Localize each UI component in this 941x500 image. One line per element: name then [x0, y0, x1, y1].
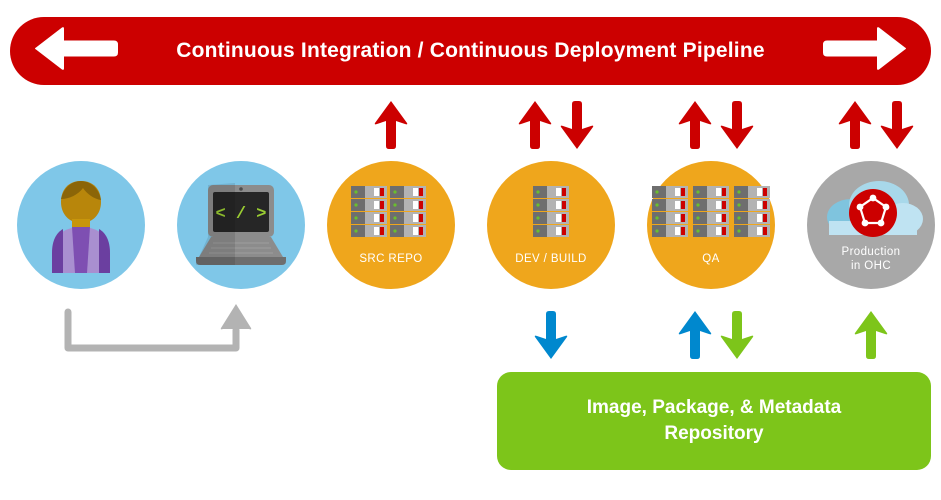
node-label-production-line1: Production — [842, 246, 901, 258]
node-label-dev-build: DEV / BUILD — [515, 252, 587, 266]
node-label-production-line2: in OHC — [851, 260, 891, 272]
page-title: Continuous Integration / Continuous Depl… — [176, 39, 765, 63]
repository-arrows-dev-build — [534, 311, 568, 359]
pipeline-banner: Continuous Integration / Continuous Depl… — [10, 17, 931, 85]
arrow-up-icon — [838, 101, 872, 149]
repository-arrows-qa — [678, 311, 754, 359]
arrow-up-icon — [518, 101, 552, 149]
node-label-production: Productionin OHC — [842, 245, 901, 274]
person-icon — [38, 194, 124, 256]
repository-label: Image, Package, & MetadataRepository — [587, 395, 842, 446]
repository-label-line2: Repository — [664, 423, 763, 444]
arrow-up-icon — [374, 101, 408, 149]
node-production[interactable]: Productionin OHC — [807, 161, 935, 289]
pipeline-arrows-src-repo — [374, 101, 408, 149]
server-rack-icon — [652, 184, 770, 246]
openshift-badge-icon — [849, 189, 897, 237]
arrow-up-icon — [221, 304, 252, 329]
node-workstation[interactable]: < / > — [177, 161, 305, 289]
node-src-repo[interactable]: SRC REPO — [327, 161, 455, 289]
arrow-down-icon — [720, 311, 754, 359]
pipeline-arrows-dev-build — [518, 101, 594, 149]
arrow-up-icon — [854, 311, 888, 359]
arrow-right-icon — [823, 27, 907, 76]
node-qa[interactable]: QA — [647, 161, 775, 289]
cloud-openshift-icon — [817, 177, 925, 239]
pipeline-arrows-qa — [678, 101, 754, 149]
repository-box[interactable]: Image, Package, & MetadataRepository — [497, 372, 931, 470]
laptop-code-icon: < / > — [191, 194, 291, 256]
developer-to-workstation-connector — [60, 300, 260, 367]
arrow-up-icon — [678, 101, 712, 149]
arrow-down-icon — [880, 101, 914, 149]
node-label-src-repo: SRC REPO — [359, 252, 422, 266]
node-dev-build[interactable]: DEV / BUILD — [487, 161, 615, 289]
pipeline-arrows-production — [838, 101, 914, 149]
server-rack-icon — [533, 184, 569, 246]
arrow-down-icon — [560, 101, 594, 149]
arrow-down-icon — [720, 101, 754, 149]
repository-label-line1: Image, Package, & Metadata — [587, 397, 842, 418]
repository-arrows-production — [854, 311, 888, 359]
arrow-left-icon — [34, 27, 118, 76]
arrow-down-icon — [534, 311, 568, 359]
arrow-up-icon — [678, 311, 712, 359]
node-label-qa: QA — [702, 252, 719, 266]
node-developer[interactable] — [17, 161, 145, 289]
server-rack-icon — [351, 184, 431, 246]
